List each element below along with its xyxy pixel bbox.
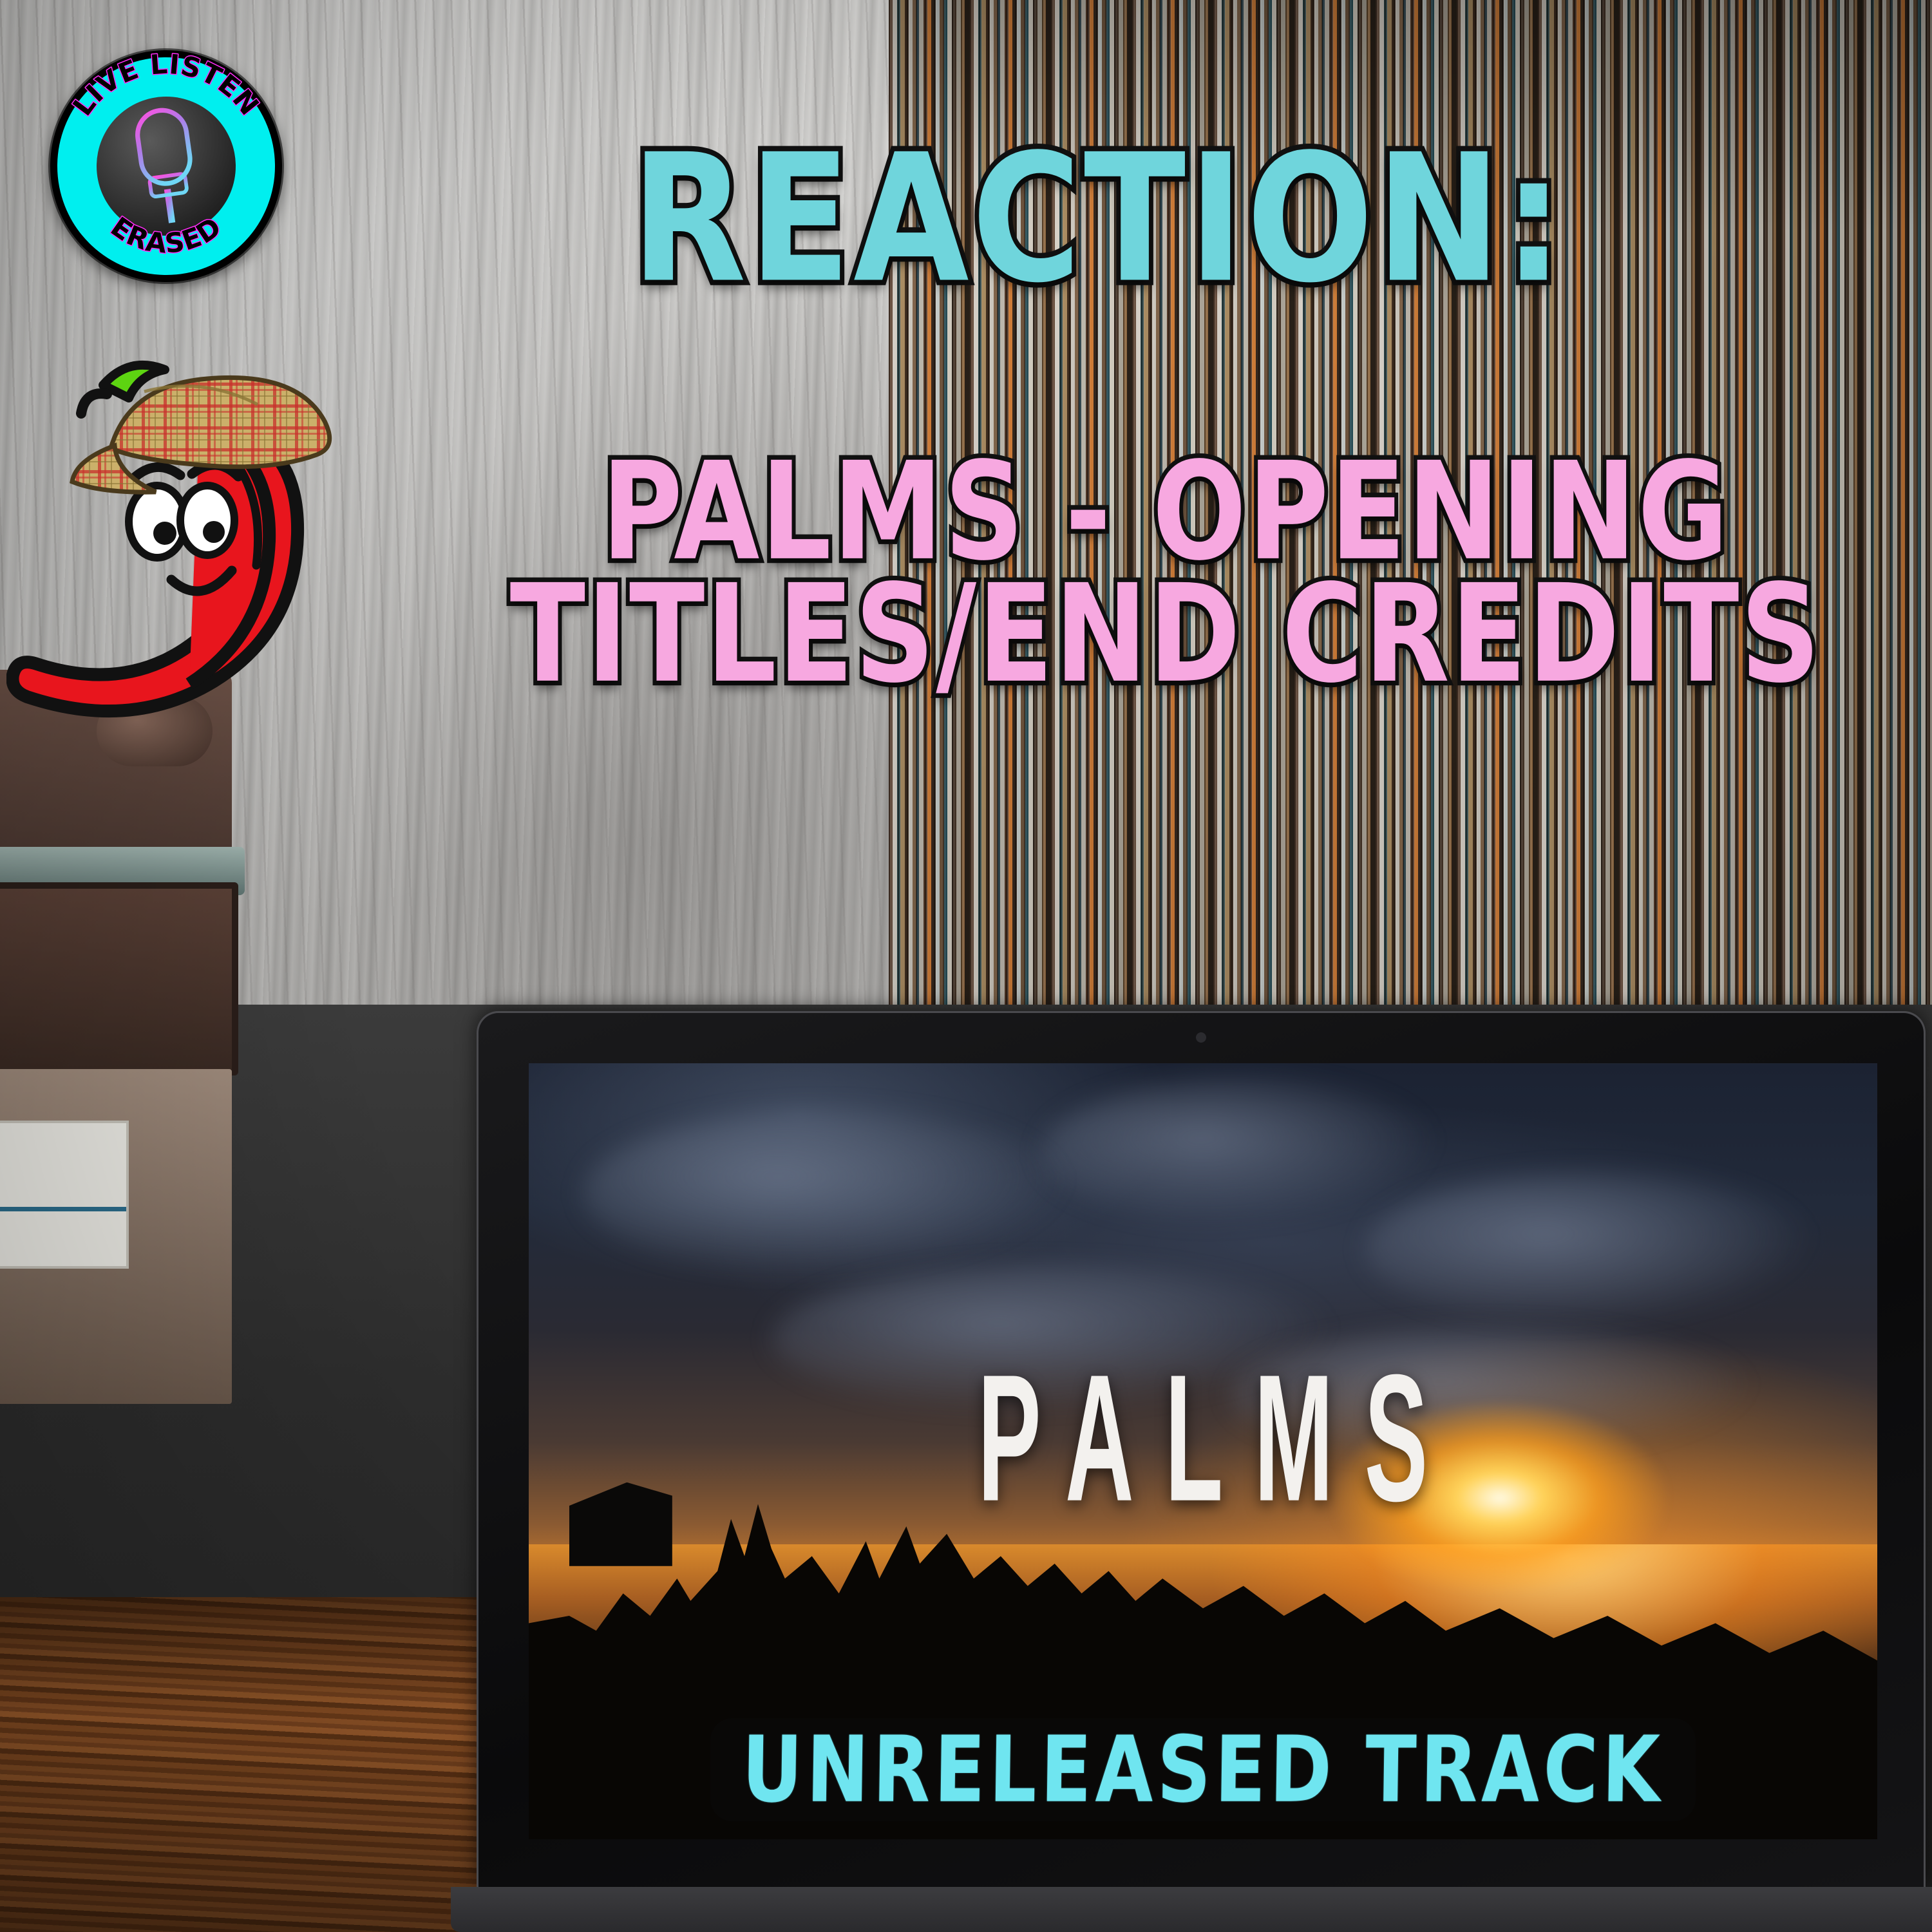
chili-stem-hook — [81, 393, 107, 413]
subtitle-line-2: TITLES/END CREDITS — [412, 567, 1919, 702]
laptop-lid: PALMS UNRELEASED TRACK — [477, 1011, 1926, 1887]
drawer-label-card — [0, 1121, 129, 1269]
chili-pepper-mascot — [6, 335, 457, 734]
vintage-microphone-icon — [110, 97, 223, 231]
thumbnail-canvas: LIVE LISTEN ERASED — [0, 0, 1932, 1932]
laptop-screen[interactable]: PALMS UNRELEASED TRACK — [529, 1063, 1877, 1839]
record-player-body — [0, 882, 238, 1075]
chili-brow-left — [133, 467, 180, 479]
chili-eye-right — [180, 486, 234, 555]
unreleased-track-banner: UNRELEASED TRACK — [710, 1718, 1696, 1821]
subtitle-block: PALMS - OPENING TITLES/END CREDITS — [412, 444, 1919, 677]
chili-pupil-right — [203, 521, 225, 543]
vintage-record-player — [0, 670, 258, 1410]
chili-pupil-left — [153, 522, 176, 545]
laptop-device: PALMS UNRELEASED TRACK — [477, 1011, 1926, 1932]
laptop-base — [451, 1887, 1932, 1932]
webcam-icon — [1196, 1032, 1206, 1043]
headline-reaction: REACTION: — [631, 138, 1926, 301]
unreleased-track-label: UNRELEASED TRACK — [741, 1717, 1665, 1823]
channel-logo-badge[interactable]: LIVE LISTEN ERASED — [50, 50, 282, 282]
record-player-drawer — [0, 1069, 232, 1404]
headline-block: REACTION: — [631, 138, 1926, 276]
movie-title-text: PALMS — [947, 1334, 1459, 1542]
